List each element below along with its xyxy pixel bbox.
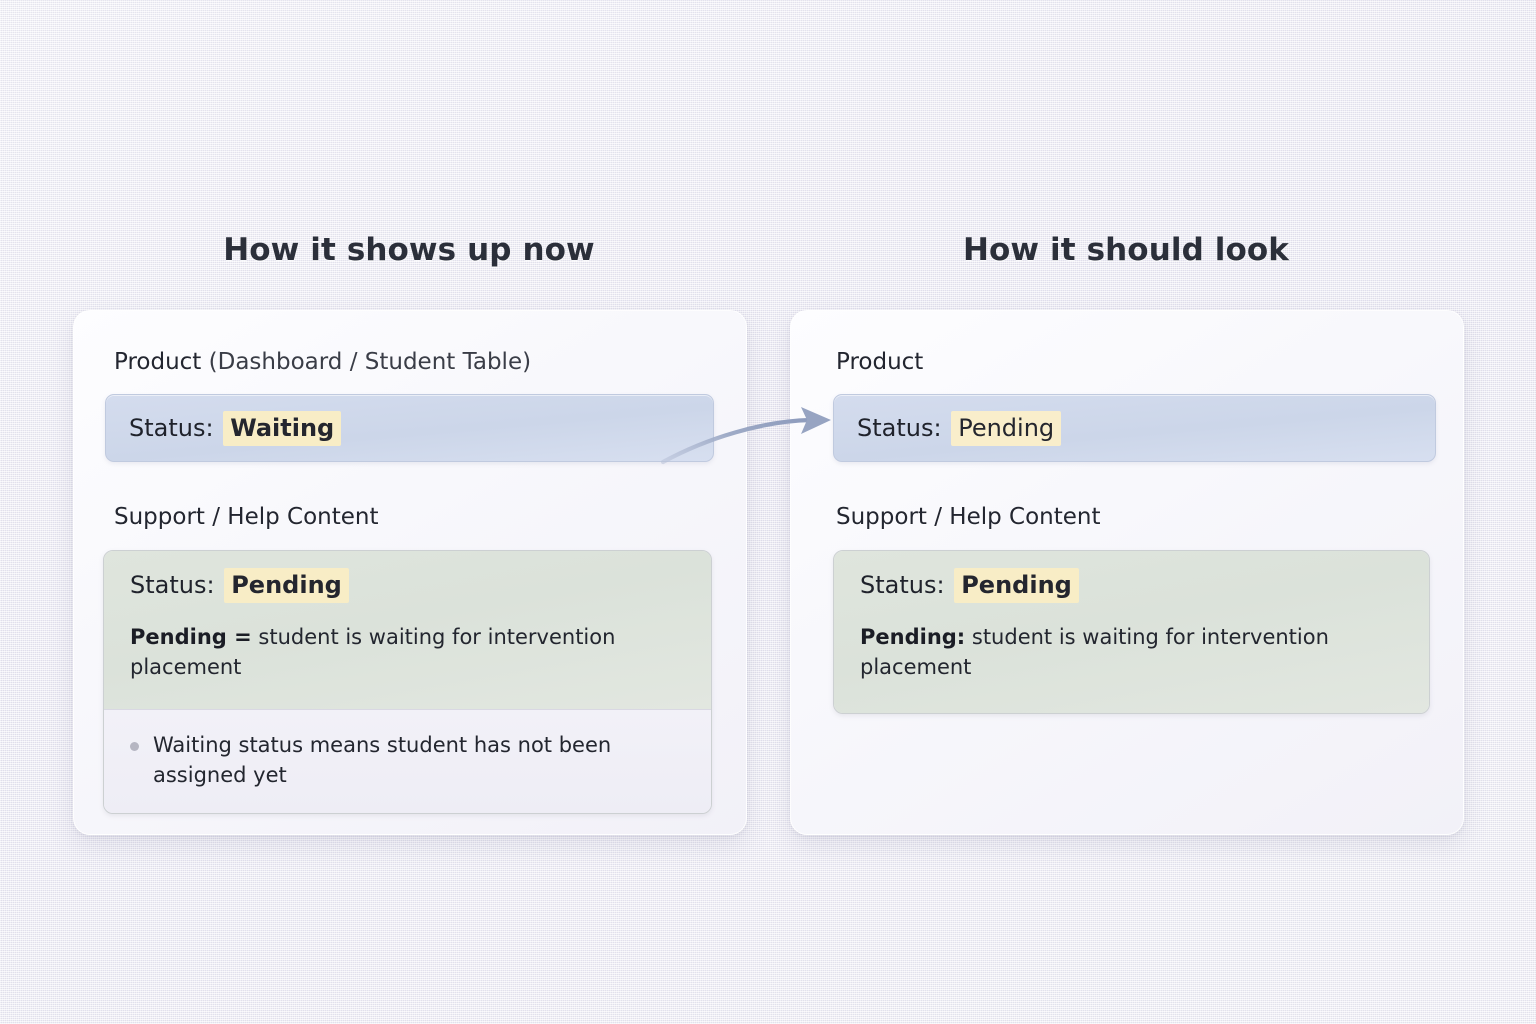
support-box-current[interactable]: Status: Pending Pending = student is wai… [103, 550, 712, 814]
product-status-label-proposed: Status: [857, 414, 944, 442]
support-green-region-current: Status: Pending Pending = student is wai… [104, 551, 711, 709]
support-status-label-current: Status: [130, 571, 217, 599]
product-status-value-proposed: Pending [951, 411, 1061, 446]
support-green-region-proposed: Status: Pending Pending: student is wait… [834, 551, 1429, 713]
support-status-line-proposed: Status: Pending [860, 573, 1403, 597]
section-label-support-proposed: Support / Help Content [836, 504, 1101, 530]
section-label-support-main-proposed: Support / Help Content [836, 504, 1101, 530]
support-note-region-current: Waiting status means student has not bee… [104, 709, 711, 813]
product-status-line-current: Status: Waiting [129, 416, 341, 440]
support-definition-proposed: Pending: student is waiting for interven… [860, 623, 1403, 683]
section-label-product-suffix: (Dashboard / Student Table) [201, 349, 531, 375]
support-definition-term-proposed: Pending: [860, 625, 965, 649]
product-status-label-current: Status: [129, 414, 216, 442]
note-list-item: Waiting status means student has not bee… [130, 730, 685, 791]
bullet-icon [130, 742, 139, 751]
product-status-box-proposed[interactable]: Status: Pending [833, 394, 1436, 462]
support-status-value-proposed: Pending [954, 568, 1079, 603]
section-label-support-current: Support / Help Content [114, 504, 379, 530]
section-label-product-current: Product (Dashboard / Student Table) [114, 349, 531, 375]
support-definition-term-current: Pending = [130, 625, 252, 649]
note-bullet-text: Waiting status means student has not bee… [153, 730, 673, 791]
product-status-box-current[interactable]: Status: Waiting [105, 394, 714, 462]
column-title-proposed: How it should look [790, 232, 1462, 268]
support-status-line-current: Status: Pending [130, 573, 685, 597]
support-status-label-proposed: Status: [860, 571, 947, 599]
comparison-diagram: How it shows up now How it should look P… [0, 0, 1536, 1024]
section-label-product-main: Product [114, 349, 201, 375]
panel-current-state: Product (Dashboard / Student Table) Stat… [73, 310, 747, 835]
support-definition-current: Pending = student is waiting for interve… [130, 623, 685, 683]
support-box-proposed[interactable]: Status: Pending Pending: student is wait… [833, 550, 1430, 714]
product-status-value-current: Waiting [223, 411, 341, 446]
product-status-line-proposed: Status: Pending [857, 416, 1061, 440]
column-title-current: How it shows up now [73, 232, 745, 268]
panel-proposed-state: Product Status: Pending Support / Help C… [790, 310, 1464, 835]
support-status-value-current: Pending [224, 568, 349, 603]
section-label-product-main-proposed: Product [836, 349, 923, 375]
section-label-product-proposed: Product [836, 349, 923, 375]
section-label-support-main: Support / Help Content [114, 504, 379, 530]
